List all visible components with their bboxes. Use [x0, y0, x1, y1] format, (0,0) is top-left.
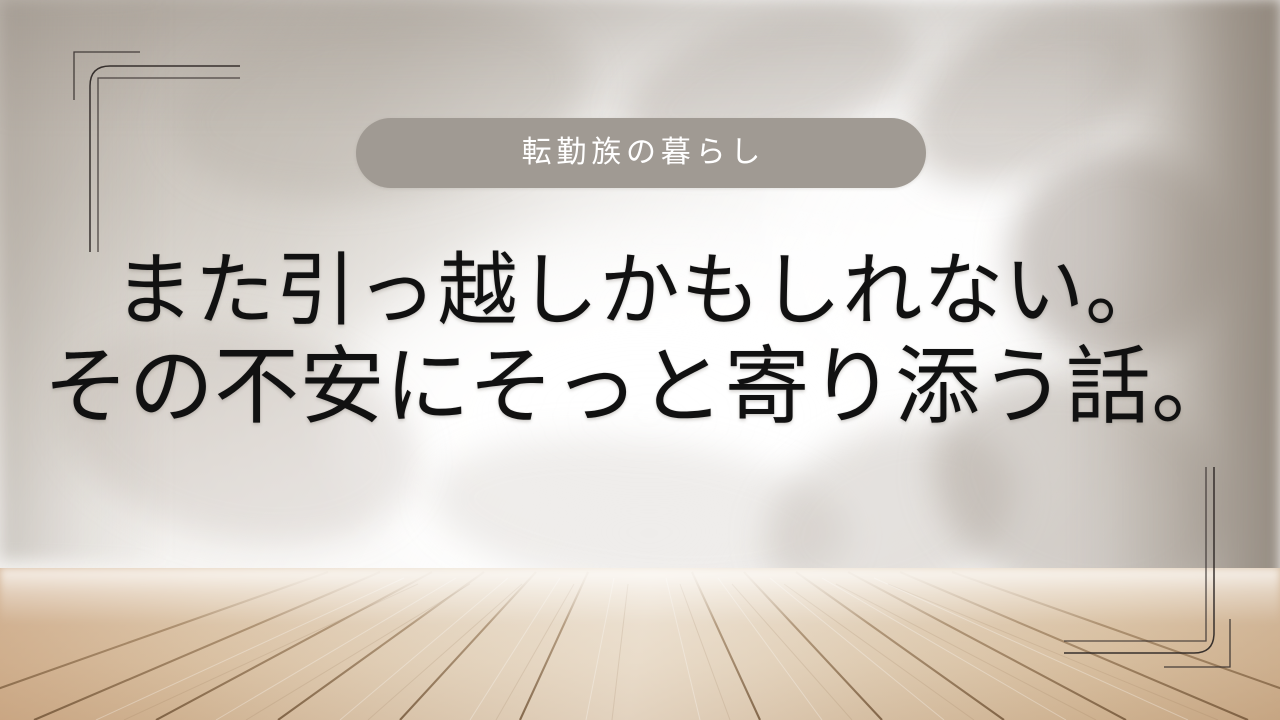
headline-line-2: その不安にそっと寄り添う話。 [0, 342, 1280, 436]
headline-line-1: また引っ越しかもしれない。 [0, 248, 1280, 336]
headline: また引っ越しかもしれない。 その不安にそっと寄り添う話。 [0, 248, 1280, 436]
category-badge-label: 転勤族の暮らし [517, 138, 765, 168]
category-badge[interactable]: 転勤族の暮らし [356, 118, 926, 188]
corner-ornament-bottom-right [1062, 462, 1242, 677]
banner-canvas: 転勤族の暮らし また引っ越しかもしれない。 その不安にそっと寄り添う話。 [0, 0, 1280, 720]
corner-ornament-top-left [62, 42, 242, 257]
